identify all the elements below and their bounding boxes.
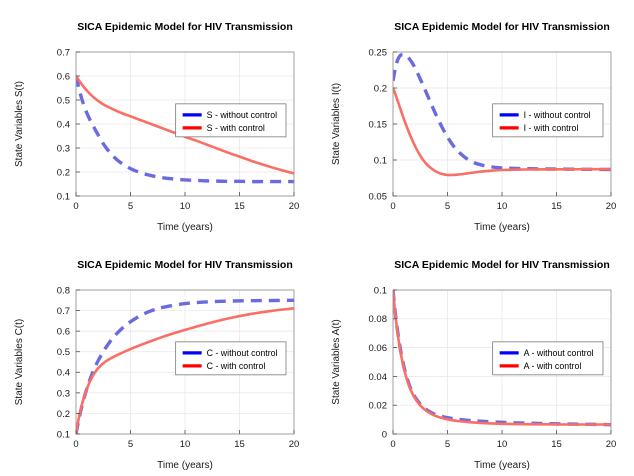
x-tick-label: 15 (551, 439, 562, 450)
legend-label-without-control: I - without control (524, 110, 591, 120)
y-tick-label: 0.5 (57, 347, 70, 358)
y-tick-label: 0.1 (374, 285, 387, 296)
x-tick-label: 10 (180, 201, 191, 212)
x-tick-label: 5 (128, 201, 133, 212)
y-tick-label: 0.1 (57, 191, 70, 202)
y-tick-label: 0.2 (57, 167, 70, 178)
y-tick-label: 0.25 (369, 47, 388, 58)
x-tick-label: 0 (73, 439, 78, 450)
y-tick-label: 0.04 (369, 372, 388, 383)
y-tick-label: 0 (382, 429, 387, 440)
chart-panel-a: SICA Epidemic Model for HIV Transmission… (317, 238, 634, 476)
x-tick-label: 15 (234, 439, 245, 450)
x-tick-label: 10 (497, 439, 508, 450)
x-tick-label: 20 (606, 439, 617, 450)
y-axis-label: State Variables I(t) (331, 83, 342, 165)
y-tick-label: 0.05 (369, 191, 388, 202)
legend-label-without-control: A - without control (524, 348, 594, 358)
y-axis-label: State Variables S(t) (14, 81, 25, 167)
y-tick-label: 0.08 (369, 314, 388, 325)
y-tick-label: 0.02 (369, 401, 388, 412)
plot-svg: SICA Epidemic Model for HIV Transmission… (0, 0, 317, 238)
x-tick-label: 20 (289, 201, 300, 212)
x-axis-label: Time (years) (157, 222, 213, 233)
x-tick-label: 20 (289, 439, 300, 450)
figure-canvas: SICA Epidemic Model for HIV Transmission… (0, 0, 634, 476)
x-tick-label: 15 (551, 201, 562, 212)
legend[interactable]: C - without controlC - with control (176, 342, 286, 375)
y-axis-label: State Variables C(t) (14, 319, 25, 406)
y-axis-label: State Variables A(t) (331, 319, 342, 404)
y-tick-label: 0.2 (374, 83, 387, 94)
y-tick-label: 0.7 (57, 306, 70, 317)
x-tick-label: 20 (606, 201, 617, 212)
plot-svg: SICA Epidemic Model for HIV Transmission… (317, 0, 634, 238)
y-tick-label: 0.6 (57, 327, 70, 338)
chart-panel-i: SICA Epidemic Model for HIV Transmission… (317, 0, 634, 238)
chart-title: SICA Epidemic Model for HIV Transmission (77, 21, 293, 33)
legend-label-with-control: I - with control (524, 123, 579, 133)
y-tick-label: 0.6 (57, 71, 70, 82)
chart-title: SICA Epidemic Model for HIV Transmission (77, 259, 293, 271)
x-axis-label: Time (years) (157, 460, 213, 471)
legend[interactable]: A - without controlA - with control (493, 342, 603, 375)
y-tick-label: 0.7 (57, 47, 70, 58)
y-tick-label: 0.3 (57, 388, 70, 399)
x-tick-label: 15 (234, 201, 245, 212)
x-tick-label: 10 (180, 439, 191, 450)
y-tick-label: 0.2 (57, 409, 70, 420)
y-tick-label: 0.15 (369, 119, 388, 130)
legend-label-with-control: C - with control (207, 361, 266, 371)
legend[interactable]: S - without controlS - with control (176, 104, 286, 137)
y-tick-label: 0.4 (57, 368, 70, 379)
legend[interactable]: I - without controlI - with control (493, 104, 603, 137)
x-tick-label: 0 (390, 201, 395, 212)
x-tick-label: 5 (445, 201, 450, 212)
y-tick-label: 0.3 (57, 143, 70, 154)
x-tick-label: 10 (497, 201, 508, 212)
plot-svg: SICA Epidemic Model for HIV Transmission… (0, 238, 317, 476)
plot-svg: SICA Epidemic Model for HIV Transmission… (317, 238, 634, 476)
y-tick-label: 0.1 (374, 155, 387, 166)
y-tick-label: 0.8 (57, 285, 70, 296)
y-tick-label: 0.06 (369, 343, 388, 354)
x-axis-label: Time (years) (474, 460, 530, 471)
legend-label-with-control: A - with control (524, 361, 582, 371)
chart-panel-s: SICA Epidemic Model for HIV Transmission… (0, 0, 317, 238)
legend-label-with-control: S - with control (207, 123, 265, 133)
x-tick-label: 0 (73, 201, 78, 212)
y-tick-label: 0.1 (57, 429, 70, 440)
x-tick-label: 5 (128, 439, 133, 450)
y-tick-label: 0.4 (57, 119, 70, 130)
legend-label-without-control: S - without control (207, 110, 277, 120)
chart-title: SICA Epidemic Model for HIV Transmission (394, 21, 610, 33)
chart-title: SICA Epidemic Model for HIV Transmission (394, 259, 610, 271)
x-tick-label: 0 (390, 439, 395, 450)
x-axis-label: Time (years) (474, 222, 530, 233)
chart-panel-c: SICA Epidemic Model for HIV Transmission… (0, 238, 317, 476)
x-tick-label: 5 (445, 439, 450, 450)
y-tick-label: 0.5 (57, 95, 70, 106)
legend-label-without-control: C - without control (207, 348, 278, 358)
